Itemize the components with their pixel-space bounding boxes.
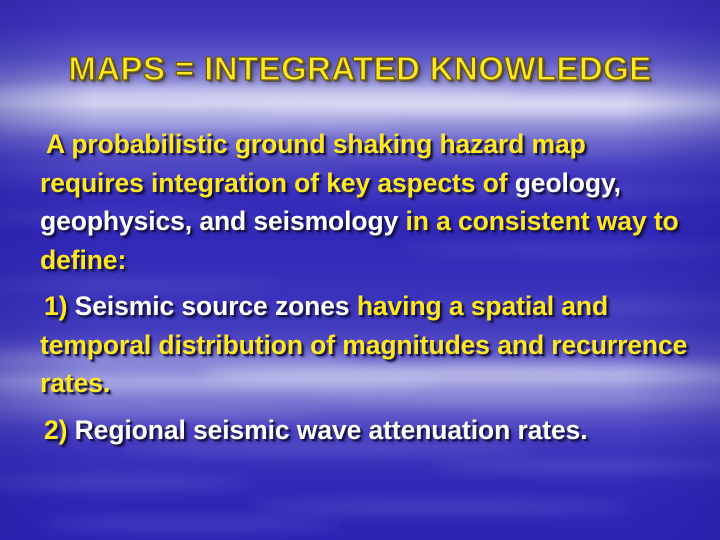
slide-body: A probabilistic ground shaking hazard ma… [40, 125, 688, 449]
paragraph-item-2: 2) Regional seismic wave attenuation rat… [40, 411, 688, 450]
list-marker-2: 2) [44, 415, 75, 445]
text-run: Seismic source zones [75, 291, 357, 321]
paragraph-intro: A probabilistic ground shaking hazard ma… [40, 125, 688, 279]
slide-title: MAPS = INTEGRATED KNOWLEDGE [0, 50, 720, 88]
paragraph-item-1: 1) Seismic source zones having a spatial… [40, 287, 688, 403]
text-run: A probabilistic ground shaking hazard ma… [40, 129, 586, 198]
slide-content: MAPS = INTEGRATED KNOWLEDGE A probabilis… [0, 0, 720, 540]
presentation-slide: MAPS = INTEGRATED KNOWLEDGE A probabilis… [0, 0, 720, 540]
list-marker-1: 1) [44, 291, 75, 321]
text-run: Regional seismic wave attenuation rates. [75, 415, 588, 445]
